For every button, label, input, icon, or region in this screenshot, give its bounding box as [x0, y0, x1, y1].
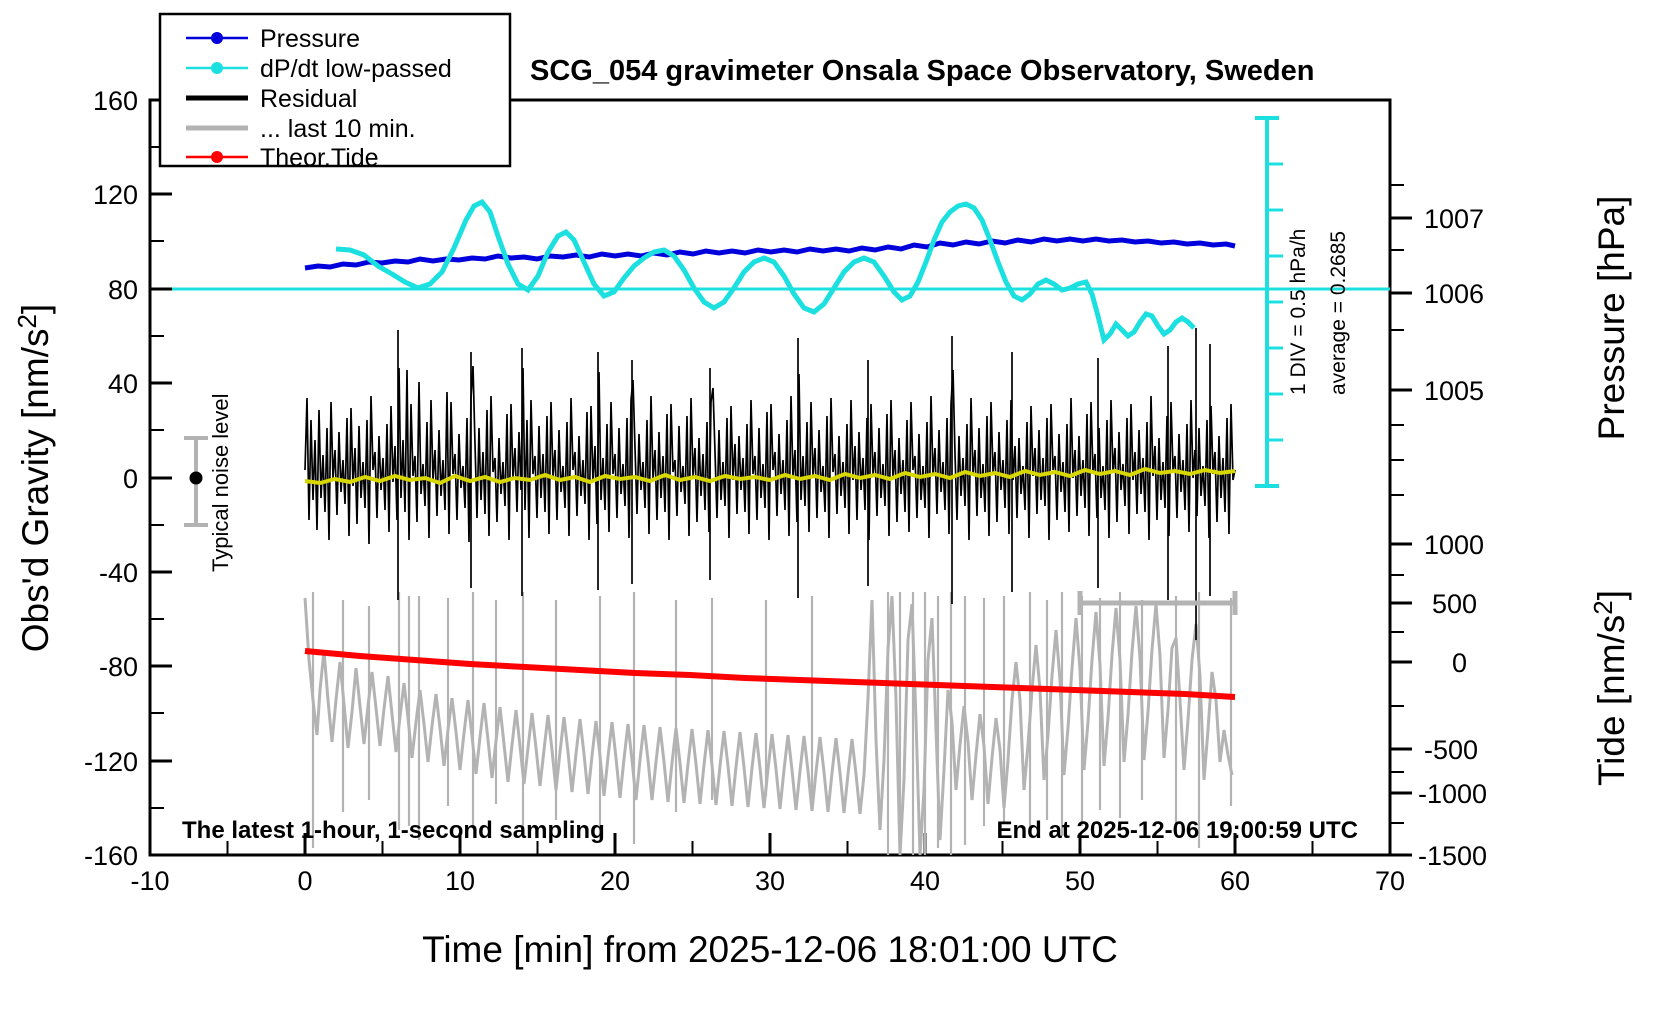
- legend-label: Theor.Tide: [260, 144, 379, 172]
- typical-noise-level-label: Typical noise level: [208, 393, 233, 572]
- ytick-label: 0: [123, 464, 138, 494]
- right-axis-label-tide: Tide [nm/s2]: [1588, 590, 1632, 786]
- legend-label: ... last 10 min.: [260, 115, 416, 143]
- tide-tick-label: -1000: [1418, 779, 1487, 809]
- tide-tick-label: 0: [1452, 648, 1467, 678]
- legend-label: Residual: [260, 85, 357, 113]
- legend-marker-dpdt: [211, 62, 223, 74]
- pressure-tick-label: 1005: [1424, 376, 1484, 406]
- xtick-label: 20: [600, 866, 630, 896]
- xtick-label: 70: [1375, 866, 1405, 896]
- page-title: SCG_054 gravimeter Onsala Space Observat…: [530, 55, 1314, 87]
- ytick-label: -80: [99, 652, 138, 682]
- right-axis-label-pressure: Pressure [hPa]: [1591, 196, 1632, 441]
- x-axis-label: Time [min] from 2025-12-06 18:01:00 UTC: [422, 929, 1118, 970]
- ytick-label: 160: [93, 86, 138, 116]
- xtick-label: 60: [1220, 866, 1250, 896]
- gravimeter-chart: 160 120 80 40 0 -40 -80 -120 -160: [0, 0, 1660, 1020]
- xtick-label: 40: [910, 866, 940, 896]
- bottom-right-note: End at 2025-12-06 19:00:59 UTC: [997, 817, 1359, 844]
- bottom-left-note: The latest 1-hour, 1-second sampling: [182, 817, 605, 844]
- y-axis-label: Obs'd Gravity [nm/s2]: [12, 304, 56, 652]
- pressure-tick-label: 1006: [1424, 279, 1484, 309]
- xtick-label: 50: [1065, 866, 1095, 896]
- tide-tick-label: -1500: [1418, 841, 1487, 871]
- tide-tick-label: -500: [1424, 735, 1478, 765]
- ytick-label: 120: [93, 180, 138, 210]
- scalebar-average-label: average = 0.2685: [1327, 231, 1350, 395]
- legend-label: Pressure: [260, 25, 360, 53]
- xtick-label: 0: [297, 866, 312, 896]
- legend-marker-pressure: [211, 32, 223, 44]
- tide-tick-label: 1000: [1424, 530, 1484, 560]
- y-axis-label-text: Obs'd Gravity [nm/s: [15, 329, 56, 653]
- scalebar-div-label: 1 DIV = 0.5 hPa/h: [1287, 229, 1310, 395]
- legend-label: dP/dt low-passed: [260, 55, 452, 83]
- xtick-label: 30: [755, 866, 785, 896]
- pressure-tick-label: 1007: [1424, 204, 1484, 234]
- chart-canvas: 160 120 80 40 0 -40 -80 -120 -160: [0, 0, 1660, 1020]
- ytick-label: 40: [108, 369, 138, 399]
- ytick-label: -120: [84, 747, 138, 777]
- xtick-label: -10: [130, 866, 169, 896]
- tide-tick-label: 500: [1432, 589, 1477, 619]
- ytick-label: -40: [99, 558, 138, 588]
- legend-marker-theor-tide: [211, 151, 223, 163]
- ytick-label: 80: [108, 275, 138, 305]
- xtick-label: 10: [445, 866, 475, 896]
- legend: Pressure dP/dt low-passed Residual ... l…: [160, 14, 510, 172]
